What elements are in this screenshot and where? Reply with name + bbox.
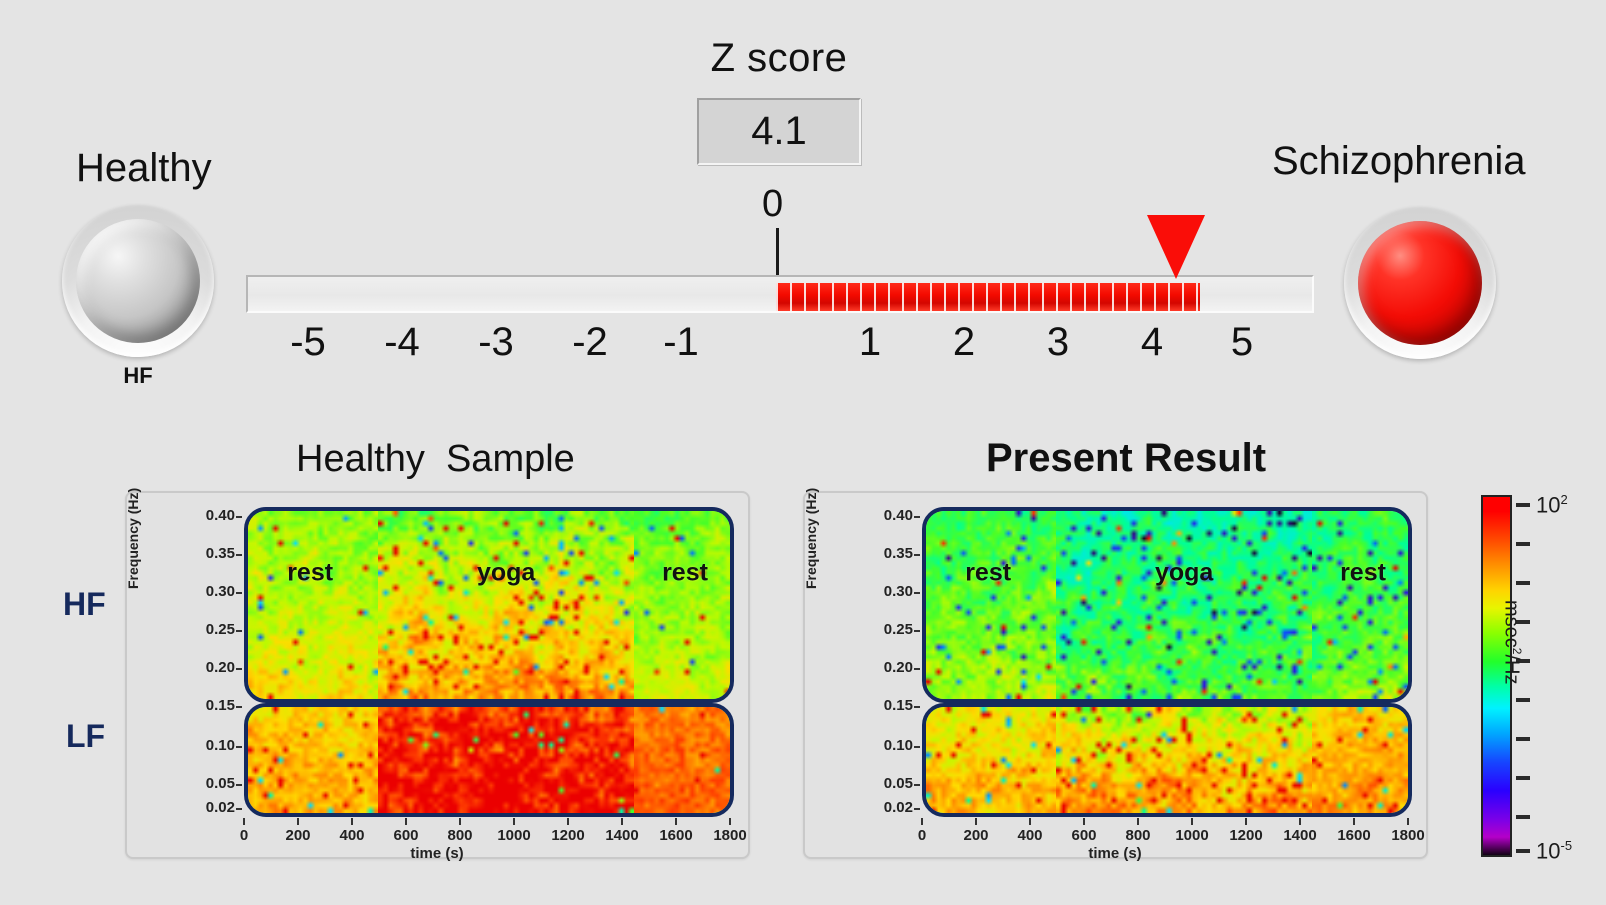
- left-xtick-400: 400: [330, 827, 374, 844]
- left-xtick-600: 600: [384, 827, 428, 844]
- healthy-led-indicator[interactable]: [62, 205, 214, 357]
- left-ytick-040: 0.40: [206, 507, 235, 524]
- schizophrenia-led-bulb: [1358, 221, 1482, 345]
- left-xtick-800: 800: [438, 827, 482, 844]
- right-lf-yoga: [1056, 707, 1311, 813]
- left-ytick-035: 0.35: [206, 545, 235, 562]
- healthy-led-label: Healthy: [76, 146, 212, 191]
- right-heatmap[interactable]: rest yoga rest: [922, 507, 1412, 817]
- schizophrenia-led-label: Schizophrenia: [1272, 139, 1526, 184]
- right-y-tick-column: 0.40 0.35 0.30 0.25 0.20 0.15 0.10 0.05 …: [855, 493, 913, 793]
- left-lf-rest2: [634, 707, 730, 813]
- right-ytick-005: 0.05: [884, 775, 913, 792]
- right-ytick-035: 0.35: [884, 545, 913, 562]
- right-x-axis-label: time (s): [1035, 845, 1195, 862]
- left-hf-rest1: [248, 511, 378, 699]
- right-ytick-040: 0.40: [884, 507, 913, 524]
- left-xtick-1800: 1800: [708, 827, 752, 844]
- slider-tick-1: 1: [840, 320, 900, 365]
- left-panel-title: Healthy Sample: [296, 438, 575, 481]
- slider-tick-3: 3: [1028, 320, 1088, 365]
- left-ytick-005: 0.05: [206, 775, 235, 792]
- slider-tick--1: -1: [651, 320, 711, 365]
- right-hf-yoga: [1056, 511, 1311, 699]
- left-ytick-020: 0.20: [206, 659, 235, 676]
- colorbar-tick-9: [1516, 849, 1530, 853]
- slider-tick-4: 4: [1122, 320, 1182, 365]
- left-xtick-1400: 1400: [600, 827, 644, 844]
- right-ytick-010: 0.10: [884, 737, 913, 754]
- colorbar-tick-2: [1516, 581, 1530, 585]
- colorbar-tick-6: [1516, 737, 1530, 741]
- colorbar-max-label: 102: [1536, 492, 1568, 518]
- left-xtick-0: 0: [222, 827, 266, 844]
- left-y-tick-column: 0.40 0.35 0.30 0.25 0.20 0.15 0.10 0.05 …: [177, 493, 235, 793]
- right-xtick-600: 600: [1062, 827, 1106, 844]
- colorbar-tick-1: [1516, 542, 1530, 546]
- slider-tick--3: -3: [466, 320, 526, 365]
- left-x-axis-label: time (s): [357, 845, 517, 862]
- left-ytick-002: 0.02: [206, 799, 235, 816]
- left-lf-yoga: [378, 707, 633, 813]
- right-ytick-020: 0.20: [884, 659, 913, 676]
- present-result-plot-panel[interactable]: Frequency (Hz) 0.40 0.35 0.30 0.25 0.20 …: [803, 491, 1428, 859]
- colorbar-unit-label: msec2/Hz: [1499, 600, 1524, 684]
- left-hf-rest2: [634, 511, 730, 699]
- right-ytick-025: 0.25: [884, 621, 913, 638]
- right-hf-band: [922, 507, 1412, 703]
- colorbar-tick-0: [1516, 503, 1530, 507]
- right-y-axis-label: Frequency (Hz): [803, 488, 819, 589]
- left-y-axis-label: Frequency (Hz): [125, 488, 141, 589]
- left-xtick-1000: 1000: [492, 827, 536, 844]
- slider-tick--2: -2: [560, 320, 620, 365]
- lf-band-label: LF: [66, 718, 105, 755]
- healthy-led-bulb: [76, 219, 200, 343]
- left-lf-rest1: [248, 707, 378, 813]
- left-ytick-025: 0.25: [206, 621, 235, 638]
- z-score-value-display[interactable]: 4.1: [697, 98, 861, 165]
- right-panel-title: Present Result: [986, 436, 1266, 481]
- right-xtick-800: 800: [1116, 827, 1160, 844]
- colorbar-min-label: 10-5: [1536, 838, 1572, 864]
- z-score-slider-fill: [776, 283, 1200, 311]
- right-xtick-1200: 1200: [1224, 827, 1268, 844]
- right-hf-rest1: [926, 511, 1056, 699]
- left-ytick-030: 0.30: [206, 583, 235, 600]
- right-xtick-1400: 1400: [1278, 827, 1322, 844]
- healthy-sample-plot-panel[interactable]: Frequency (Hz) 0.40 0.35 0.30 0.25 0.20 …: [125, 491, 750, 859]
- left-lf-band: [244, 703, 734, 817]
- slider-zero-tick: [776, 228, 779, 276]
- left-xtick-1600: 1600: [654, 827, 698, 844]
- schizophrenia-led-indicator[interactable]: [1344, 207, 1496, 359]
- slider-tick-5: 5: [1212, 320, 1272, 365]
- slider-tick--4: -4: [372, 320, 432, 365]
- right-xtick-400: 400: [1008, 827, 1052, 844]
- left-xtick-1200: 1200: [546, 827, 590, 844]
- right-xtick-0: 0: [900, 827, 944, 844]
- left-hf-band: [244, 507, 734, 703]
- right-xtick-200: 200: [954, 827, 998, 844]
- right-xtick-1800: 1800: [1386, 827, 1430, 844]
- right-ytick-002: 0.02: [884, 799, 913, 816]
- right-ytick-015: 0.15: [884, 697, 913, 714]
- right-xtick-1600: 1600: [1332, 827, 1376, 844]
- right-lf-rest1: [926, 707, 1056, 813]
- left-ytick-015: 0.15: [206, 697, 235, 714]
- right-ytick-030: 0.30: [884, 583, 913, 600]
- right-hf-rest2: [1312, 511, 1408, 699]
- left-heatmap[interactable]: rest yoga rest: [244, 507, 734, 817]
- left-ytick-010: 0.10: [206, 737, 235, 754]
- right-lf-rest2: [1312, 707, 1408, 813]
- slider-zero-label: 0: [762, 183, 783, 226]
- colorbar-tick-8: [1516, 815, 1530, 819]
- right-xtick-1000: 1000: [1170, 827, 1214, 844]
- slider-tick-2: 2: [934, 320, 994, 365]
- z-score-title: Z score: [684, 36, 874, 81]
- hf-band-label: HF: [63, 586, 106, 623]
- right-lf-band: [922, 703, 1412, 817]
- z-score-slider-pointer[interactable]: [1147, 215, 1205, 279]
- left-hf-yoga: [378, 511, 633, 699]
- colorbar-tick-7: [1516, 776, 1530, 780]
- left-xtick-200: 200: [276, 827, 320, 844]
- healthy-led-sub-label: HF: [62, 363, 214, 389]
- colorbar-tick-5: [1516, 698, 1530, 702]
- slider-tick--5: -5: [278, 320, 338, 365]
